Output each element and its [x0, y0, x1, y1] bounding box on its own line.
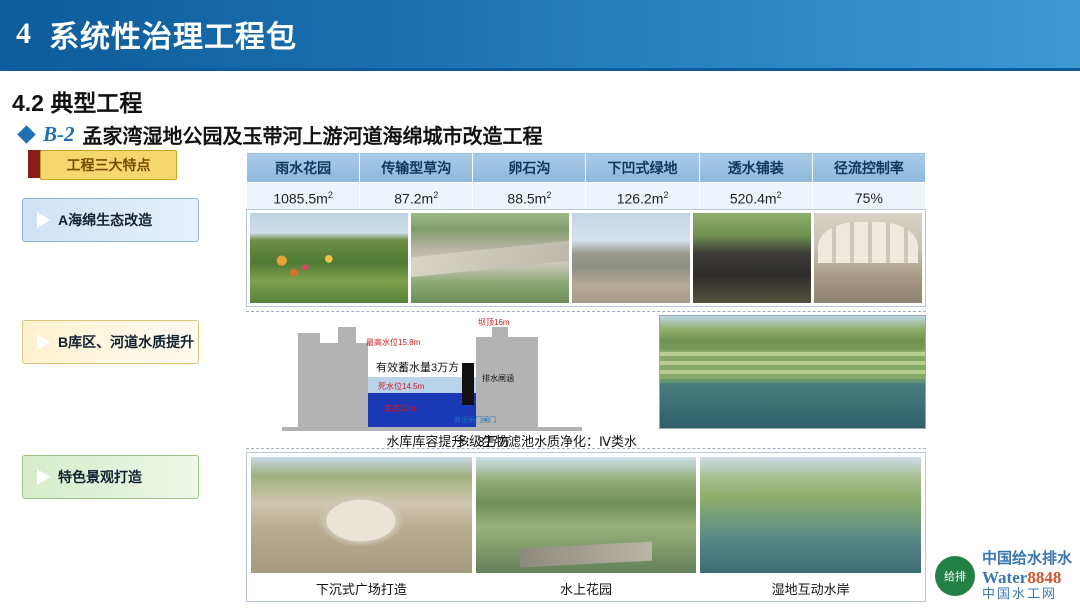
dam-right-cap [492, 327, 508, 339]
project-heading: B-2 孟家湾湿地公园及玉带河上游河道海绵城市改造工程 [20, 120, 543, 149]
watermark-en-word: Water [982, 568, 1027, 587]
arrow-right-icon [37, 334, 50, 350]
feature-item-b-label: B库区、河道水质提升 [58, 332, 194, 352]
table-header-cell: 卵石沟 [473, 153, 586, 183]
permeable-pavement-photo [814, 213, 922, 303]
photo-strip-sponge-measures [246, 209, 926, 307]
dam-left-tower [338, 327, 356, 345]
max-water-level-label: 最高水位15.8m [366, 337, 420, 348]
dam-crest-label: 坝顶16m [478, 317, 510, 328]
feature-item-b[interactable]: B库区、河道水质提升 [22, 320, 199, 364]
arrow-right-icon [37, 212, 50, 228]
table-cell-sup: 2 [328, 190, 333, 200]
table-cell-value: 75% [855, 190, 883, 206]
watermark-en-number: 8848 [1027, 568, 1061, 587]
section-divider-top [246, 311, 926, 312]
watermark-logo-icon: 给排 [935, 556, 975, 596]
sluice-gate [462, 363, 474, 405]
header-title: 系统性治理工程包 [49, 12, 297, 56]
watermark-cn-top: 中国给水排水 [982, 550, 1072, 567]
grass-swale-photo [411, 213, 569, 303]
metrics-table: 雨水花园 传输型草沟 卵石沟 下凹式绿地 透水铺装 径流控制率 1085.5m2… [246, 152, 926, 214]
watermark-en: Water8848 [982, 568, 1072, 588]
arrow-right-icon [37, 469, 50, 485]
watermark-cn-bottom: 中国水工网 [982, 587, 1072, 602]
landscape-photo-row [251, 457, 921, 573]
watermark: 给排 中国给水排水 Water8848 中国水工网 [935, 550, 1072, 602]
table-header-cell: 径流控制率 [812, 153, 925, 183]
page-header: 4 系统性治理工程包 [0, 0, 1080, 68]
table-header-row: 雨水花园 传输型草沟 卵石沟 下凹式绿地 透水铺装 径流控制率 [247, 153, 926, 183]
table-header-cell: 雨水花园 [247, 153, 360, 183]
feature-item-a-label: A海绵生态改造 [58, 210, 152, 230]
feature-item-c-label: 特色景观打造 [58, 467, 142, 487]
reservoir-section: 最高水位15.8m 坝顶16m 有效蓄水量3万方 死水位14.5m 库底12m … [246, 315, 926, 443]
reservoir-bottom-label: 库底12m [384, 403, 416, 414]
new-gate-label: 新设闸门闸门 [454, 415, 496, 425]
sunken-plaza-photo [251, 457, 472, 573]
table-cell-value: 1085.5m [273, 190, 327, 206]
table-header-cell: 透水铺装 [699, 153, 812, 183]
table-cell-value: 87.2m [394, 190, 433, 206]
table-cell-value: 126.2m [617, 190, 664, 206]
sub-section-title: 4.2 典型工程 [12, 84, 142, 118]
table-header-cell: 下凹式绿地 [586, 153, 699, 183]
table-cell-sup: 2 [433, 190, 438, 200]
header-section-number: 4 [16, 17, 31, 51]
landscape-caption-row: 下沉式广场打造 水上花园 湿地互动水岸 [251, 579, 921, 598]
dam-left-body [298, 343, 368, 427]
reservoir-diagram: 最高水位15.8m 坝顶16m 有效蓄水量3万方 死水位14.5m 库底12m … [246, 315, 651, 427]
table-cell-sup: 2 [777, 190, 782, 200]
cobble-ditch-photo [572, 213, 690, 303]
feature-item-c[interactable]: 特色景观打造 [22, 455, 199, 499]
sunken-green-photo [693, 213, 811, 303]
bio-filter-pond-caption: 多级生物滤池水质净化：Ⅳ类水 [413, 431, 680, 450]
wetland-waterfront-photo [700, 457, 921, 573]
outlet-culvert-label: 排水闸涵 [482, 373, 514, 384]
bio-filter-pond-photo [659, 315, 926, 429]
feature-item-a[interactable]: A海绵生态改造 [22, 198, 199, 242]
water-garden-caption: 水上花园 [476, 579, 697, 598]
project-code: B-2 [43, 122, 75, 147]
dam-left-cap [298, 333, 320, 345]
table-cell-value: 88.5m [507, 190, 546, 206]
header-underline [0, 68, 1080, 71]
feature-badge: 工程三大特点 [40, 150, 177, 180]
water-garden-photo [476, 457, 697, 573]
table-cell-sup: 2 [546, 190, 551, 200]
storage-volume-label: 有效蓄水量3万方 [376, 359, 459, 375]
rain-garden-photo [250, 213, 408, 303]
project-title: 孟家湾湿地公园及玉带河上游河道海绵城市改造工程 [83, 120, 543, 149]
wetland-waterfront-caption: 湿地互动水岸 [700, 579, 921, 598]
dead-water-level-label: 死水位14.5m [378, 381, 424, 392]
table-cell-value: 520.4m [730, 190, 777, 206]
landscape-photo-panel: 下沉式广场打造 水上花园 湿地互动水岸 [246, 452, 926, 602]
table-header-cell: 传输型草沟 [360, 153, 473, 183]
diamond-bullet-icon [17, 125, 35, 143]
sunken-plaza-caption: 下沉式广场打造 [251, 579, 472, 598]
watermark-text: 中国给水排水 Water8848 中国水工网 [982, 550, 1072, 602]
table-cell-sup: 2 [663, 190, 668, 200]
